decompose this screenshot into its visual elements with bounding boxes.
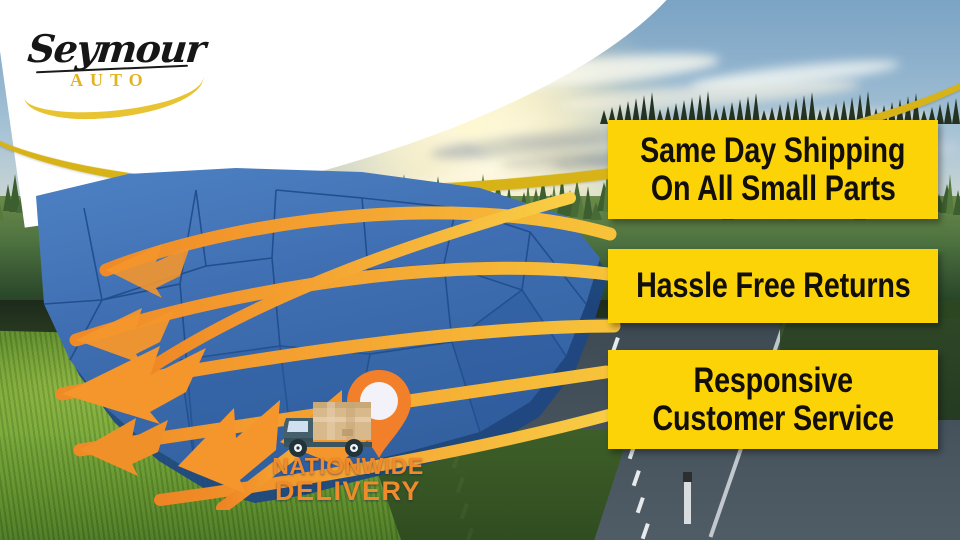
banner-same-day-shipping[interactable]: Same Day Shipping On All Small Parts xyxy=(608,120,938,219)
banner-responsive-customer-service[interactable]: Responsive Customer Service xyxy=(608,350,938,449)
silhouette-tree xyxy=(952,98,960,124)
banner1-line2: On All Small Parts xyxy=(651,170,896,207)
lane-dash xyxy=(632,470,641,486)
usa-delivery-map: NATIONWIDE DELIVERY xyxy=(10,150,630,510)
silhouette-tree xyxy=(944,101,952,124)
promo-banner-stage: Seymour AUTO xyxy=(0,0,960,540)
logo-sub-name: AUTO xyxy=(70,70,150,91)
delivery-truck-icon xyxy=(280,398,380,460)
lane-dash xyxy=(636,497,645,513)
nationwide-line-1: NATIONWIDE xyxy=(258,455,438,478)
banner1-line1: Same Day Shipping xyxy=(640,132,905,169)
banner3-line2: Customer Service xyxy=(652,400,893,437)
lane-dash xyxy=(640,523,649,539)
banner2-line1: Hassle Free Returns xyxy=(636,267,910,304)
roadside-marker-cap xyxy=(683,472,692,482)
nationwide-delivery-caption: NATIONWIDE DELIVERY xyxy=(258,455,438,506)
banner-hassle-free-returns[interactable]: Hassle Free Returns xyxy=(608,249,938,323)
brand-logo[interactable]: Seymour AUTO xyxy=(14,14,204,100)
banner3-line1: Responsive xyxy=(693,362,852,399)
nationwide-line-2: DELIVERY xyxy=(258,478,438,506)
roadside-marker-post xyxy=(684,480,691,524)
